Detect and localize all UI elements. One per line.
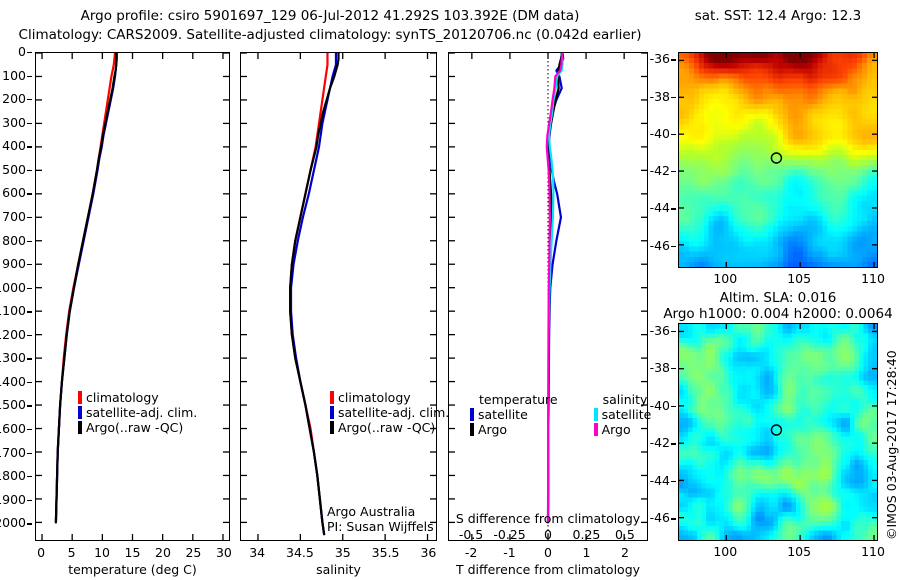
axis-tick-label: 800	[2, 233, 26, 248]
legend-label: Argo(..raw -QC)	[86, 421, 183, 434]
legend-swatch-climatology	[330, 391, 334, 404]
axis-tick-mark	[27, 453, 32, 454]
axis-tick-mark	[27, 241, 32, 242]
axis-tick-mark	[671, 59, 676, 60]
axis-tick-mark	[27, 123, 32, 124]
legend-group-header-temperature: temperature	[470, 392, 558, 407]
axis-tick-label: 600	[2, 185, 26, 200]
axis-tick-mark	[671, 368, 676, 369]
axis-tick-label: 2000	[0, 515, 26, 530]
axis-tick-label: 1300	[0, 350, 26, 365]
sla-map-title-line1: Altim. SLA: 0.016	[660, 290, 896, 306]
axis-tick-mark	[27, 288, 32, 289]
axis-tick-label: 100	[695, 544, 755, 559]
difference-profile-plot	[449, 53, 647, 540]
legend-item: climatology	[330, 390, 449, 405]
axis-tick-mark	[671, 134, 676, 135]
legend-item: Argo	[594, 422, 652, 437]
profile-legend-2: climatology satellite-adj. clim. Argo(..…	[330, 390, 449, 435]
salinity-profile-plot	[241, 53, 436, 540]
axis-tick-mark	[27, 76, 32, 77]
axis-tick-label: 0	[18, 44, 26, 59]
temperature-profile-plot	[36, 53, 229, 540]
axis-tick-mark	[671, 481, 676, 482]
legend-label: Argo	[602, 423, 631, 436]
axis-tick-label: -44	[650, 200, 670, 215]
axis-tick-label: -36	[650, 51, 670, 66]
axis-tick-mark	[671, 443, 676, 444]
page-title-line2: Climatology: CARS2009. Satellite-adjuste…	[0, 27, 660, 43]
legend-item: Argo(..raw -QC)	[330, 420, 449, 435]
axis-tick-mark	[671, 246, 676, 247]
difference-profile-panel	[448, 52, 648, 541]
axis-tick-label: 500	[2, 162, 26, 177]
axis-tick-label: 1700	[0, 445, 26, 460]
legend-label: climatology	[338, 391, 411, 404]
salinity-axis-ticks: 3434.53535.536	[240, 545, 437, 561]
sla-longitude-ticks: 100105110	[678, 544, 878, 560]
credit-text: ©IMOS 03-Aug-2017 17:28:40	[884, 350, 899, 540]
axis-tick-label: 1900	[0, 492, 26, 507]
axis-tick-label: -46	[650, 510, 670, 525]
axis-tick-label: 2	[595, 545, 655, 560]
legend-label: Argo(..raw -QC)	[338, 421, 435, 434]
axis-tick-mark	[27, 405, 32, 406]
axis-tick-mark	[671, 406, 676, 407]
axis-tick-mark	[27, 500, 32, 501]
axis-tick-mark	[27, 523, 32, 524]
legend-swatch-temperature-satellite	[470, 408, 474, 421]
temperature-profile-panel	[35, 52, 230, 541]
axis-tick-mark	[27, 311, 32, 312]
legend-label: satellite-adj. clim.	[338, 406, 449, 419]
legend-label: satellite	[478, 408, 528, 421]
legend-group-header-salinity: salinity	[594, 392, 652, 407]
axis-tick-label: -38	[650, 89, 670, 104]
difference-legend-temperature: temperature satellite Argo	[470, 392, 558, 437]
axis-tick-label: -36	[650, 323, 670, 338]
sst-map-image	[679, 53, 877, 267]
legend-item: Argo	[470, 422, 558, 437]
legend-swatch-temperature-argo	[470, 423, 474, 436]
difference-legend: temperature satellite Argo salinity sate…	[470, 392, 651, 437]
legend-label: satellite-adj. clim.	[86, 406, 197, 419]
sst-map-panel	[678, 52, 878, 268]
temperature-axis-label: temperature (deg C)	[35, 562, 230, 577]
axis-tick-mark	[671, 97, 676, 98]
axis-tick-label: 100	[2, 68, 26, 83]
axis-tick-mark	[27, 476, 32, 477]
axis-tick-mark	[27, 217, 32, 218]
attribution-line1: Argo Australia	[327, 504, 434, 519]
axis-tick-mark	[671, 208, 676, 209]
axis-tick-label: 105	[769, 544, 829, 559]
salinity-axis-label: salinity	[240, 562, 437, 577]
axis-tick-mark	[27, 429, 32, 430]
axis-tick-label: 700	[2, 209, 26, 224]
axis-tick-label: 100	[695, 271, 755, 286]
temperature-difference-axis-label: T difference from climatology	[448, 562, 648, 577]
axis-tick-label: -44	[650, 473, 670, 488]
axis-tick-mark	[27, 170, 32, 171]
temperature-difference-axis-ticks: -2-1012	[448, 545, 648, 561]
legend-swatch-climatology	[78, 391, 82, 404]
axis-tick-mark	[27, 146, 32, 147]
axis-tick-label: 1100	[0, 303, 26, 318]
axis-tick-label: 1200	[0, 327, 26, 342]
sst-longitude-ticks: 100105110	[678, 271, 878, 287]
axis-tick-label: 110	[843, 271, 900, 286]
legend-swatch-salinity-argo	[594, 423, 598, 436]
sla-map-panel	[678, 323, 878, 541]
axis-tick-label: 900	[2, 256, 26, 271]
salinity-difference-axis-label: S difference from climatology	[448, 511, 648, 526]
attribution-line2: PI: Susan Wijffels	[327, 519, 434, 534]
axis-tick-mark	[671, 331, 676, 332]
axis-tick-label: 1400	[0, 374, 26, 389]
axis-tick-label: 105	[769, 271, 829, 286]
axis-tick-label: 1500	[0, 397, 26, 412]
axis-tick-mark	[671, 518, 676, 519]
axis-tick-label: 300	[2, 115, 26, 130]
legend-label: Argo	[478, 423, 507, 436]
axis-tick-mark	[27, 193, 32, 194]
axis-tick-label: -42	[650, 163, 670, 178]
legend-item: satellite	[470, 407, 558, 422]
axis-tick-label: -40	[650, 126, 670, 141]
sla-map-image	[679, 324, 877, 540]
axis-tick-label: -40	[650, 398, 670, 413]
legend-label: climatology	[86, 391, 159, 404]
axis-tick-label: 1000	[0, 280, 26, 295]
axis-tick-mark	[27, 264, 32, 265]
temperature-axis-ticks: 051015202530	[35, 545, 230, 561]
axis-tick-mark	[671, 171, 676, 172]
legend-label: satellite	[602, 408, 652, 421]
axis-tick-label: 200	[2, 91, 26, 106]
legend-item: Argo(..raw -QC)	[78, 420, 197, 435]
depth-axis-ticks-left: 0100200300400500600700800900100011001200…	[0, 52, 32, 541]
legend-swatch-salinity-satellite	[594, 408, 598, 421]
legend-swatch-argo	[78, 421, 82, 434]
legend-swatch-satellite-adj	[330, 406, 334, 419]
credit-block: ©IMOS 03-Aug-2017 17:28:40	[884, 540, 900, 555]
axis-tick-mark	[27, 358, 32, 359]
legend-item: climatology	[78, 390, 197, 405]
difference-legend-salinity: salinity satellite Argo	[594, 392, 652, 437]
axis-tick-label: -38	[650, 360, 670, 375]
page-title-line1: Argo profile: csiro 5901697_129 06-Jul-2…	[0, 8, 660, 24]
sla-map-title-line2: Argo h1000: 0.004 h2000: 0.0064	[655, 306, 900, 322]
axis-tick-mark	[27, 382, 32, 383]
axis-tick-label: 400	[2, 138, 26, 153]
legend-swatch-satellite-adj	[78, 406, 82, 419]
legend-item: satellite-adj. clim.	[330, 405, 449, 420]
profile-legend-1: climatology satellite-adj. clim. Argo(..…	[78, 390, 197, 435]
salinity-profile-panel	[240, 52, 437, 541]
salinity-difference-axis-ticks: -0.5-0.2500.250.5	[448, 527, 648, 543]
axis-tick-label: -46	[650, 238, 670, 253]
sla-latitude-ticks: -36-38-40-42-44-46	[645, 323, 676, 541]
axis-tick-label: 1600	[0, 421, 26, 436]
legend-item: satellite	[594, 407, 652, 422]
attribution-block: Argo Australia PI: Susan Wijffels	[327, 504, 434, 534]
axis-tick-mark	[27, 335, 32, 336]
legend-swatch-argo	[330, 421, 334, 434]
legend-item: satellite-adj. clim.	[78, 405, 197, 420]
sst-map-title: sat. SST: 12.4 Argo: 12.3	[660, 8, 896, 24]
axis-tick-mark	[27, 52, 32, 53]
axis-tick-mark	[27, 99, 32, 100]
axis-tick-label: 1800	[0, 468, 26, 483]
axis-tick-label: -42	[650, 435, 670, 450]
sst-latitude-ticks: -36-38-40-42-44-46	[645, 52, 676, 268]
